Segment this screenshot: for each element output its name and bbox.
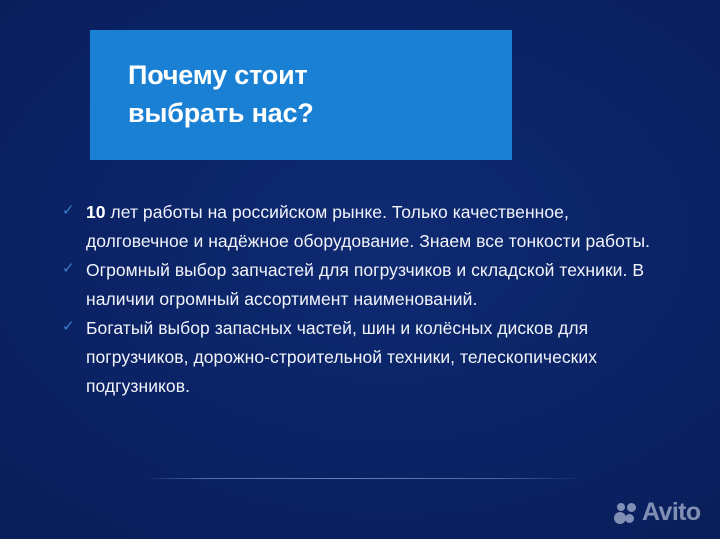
avito-watermark: Avito — [614, 500, 701, 525]
title-line-1: Почему стоит — [128, 56, 512, 94]
list-item-body: Богатый выбор запасных частей, шин и кол… — [86, 318, 597, 395]
list-item-body: лет работы на российском рынке. Только к… — [86, 202, 650, 251]
list-item: ✓ 10 лет работы на российском рынке. Тол… — [62, 198, 674, 255]
checkmark-icon: ✓ — [62, 256, 86, 277]
avito-dots-icon — [614, 501, 639, 525]
avito-wordmark: Avito — [642, 500, 701, 525]
checkmark-icon: ✓ — [62, 314, 86, 335]
list-item-text: 10 лет работы на российском рынке. Тольк… — [86, 198, 674, 255]
title-line-2: выбрать нас? — [128, 94, 512, 132]
horizontal-divider — [148, 478, 576, 479]
checkmark-icon: ✓ — [62, 198, 86, 219]
benefits-list: ✓ 10 лет работы на российском рынке. Тол… — [62, 198, 674, 401]
list-item-text: Огромный выбор запчастей для погрузчиков… — [86, 256, 674, 313]
list-item: ✓ Огромный выбор запчастей для погрузчик… — [62, 256, 674, 313]
list-item-lead: 10 — [86, 202, 106, 222]
list-item-body: Огромный выбор запчастей для погрузчиков… — [86, 260, 644, 309]
title-box: Почему стоит выбрать нас? — [90, 30, 512, 160]
slide-canvas: Почему стоит выбрать нас? ✓ 10 лет работ… — [0, 0, 720, 539]
list-item: ✓ Богатый выбор запасных частей, шин и к… — [62, 314, 674, 400]
list-item-text: Богатый выбор запасных частей, шин и кол… — [86, 314, 674, 400]
